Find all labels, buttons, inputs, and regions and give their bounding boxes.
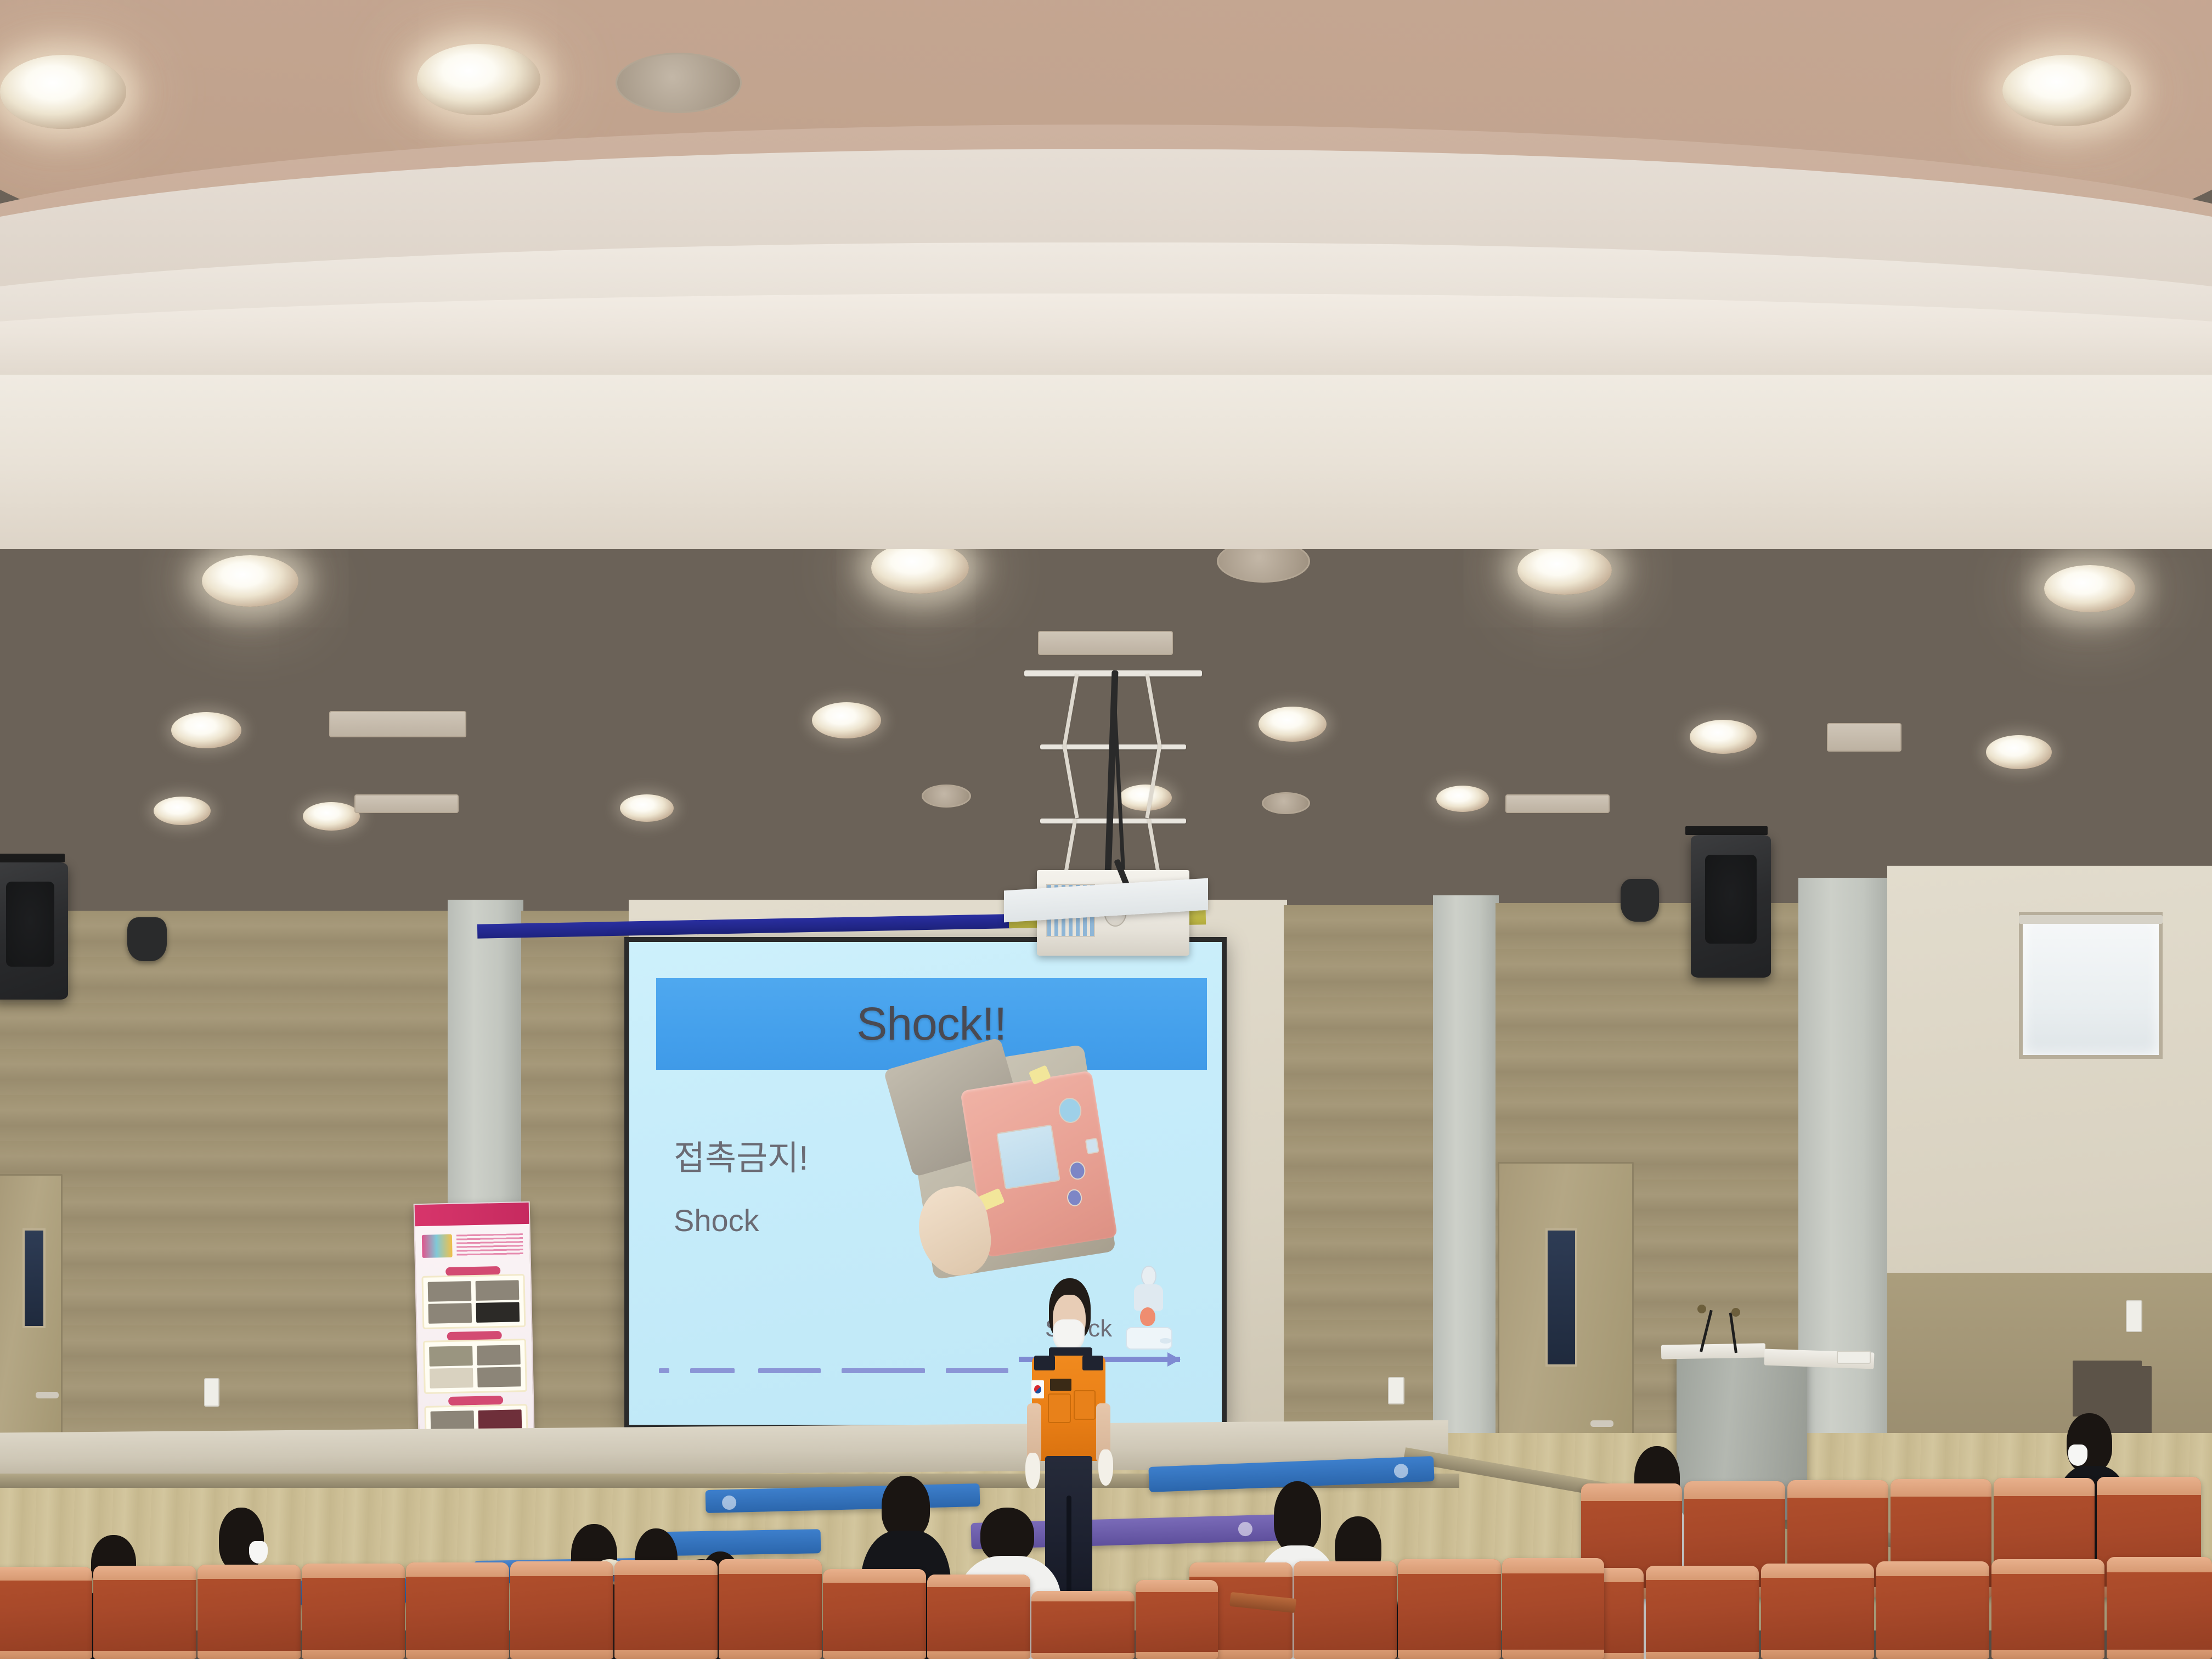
slide-title-banner: Shock!! <box>656 978 1207 1070</box>
auditorium-seat[interactable] <box>1294 1561 1397 1659</box>
ceiling-downlight-12 <box>1986 735 2052 769</box>
instructor-chest-pocket-right <box>1074 1390 1096 1420</box>
rollup-photo <box>427 1281 471 1302</box>
mat-logo <box>722 1496 737 1510</box>
door-window-right <box>1545 1228 1577 1367</box>
aed-power-button <box>1057 1096 1084 1125</box>
wall-wood-center-left <box>521 911 631 1448</box>
attendee-face-mask <box>2068 1444 2088 1466</box>
ceiling-access-hatch <box>1827 723 1901 752</box>
mat-logo <box>1238 1522 1253 1537</box>
instructor-glove-left <box>1025 1453 1040 1489</box>
cpr-compression-icon <box>1124 1266 1175 1352</box>
cpr-icon-victim <box>1126 1327 1172 1350</box>
speaker-bracket-left <box>0 854 65 862</box>
speaker-left <box>0 862 68 1000</box>
wall-wood-center-right <box>1284 905 1437 1454</box>
scissor-arm-l2 <box>1062 745 1079 819</box>
speaker-bracket-right <box>1685 826 1768 835</box>
auditorium-seat[interactable] <box>823 1569 926 1659</box>
ceiling-downlight-15 <box>620 794 674 822</box>
cpr-icon-head <box>1141 1266 1156 1286</box>
progress-dash-1 <box>659 1368 669 1373</box>
back-wall-upper <box>0 375 2212 549</box>
instructor-chest-pocket-left <box>1048 1393 1070 1423</box>
rollup-header-bar <box>415 1203 529 1227</box>
wall-outlet-left <box>204 1378 219 1407</box>
scissor-arm-l3 <box>1064 819 1077 873</box>
rollup-photo-section-1 <box>422 1274 526 1329</box>
ceiling-downlight-2 <box>417 44 540 115</box>
rollup-photo <box>475 1280 519 1301</box>
scissor-arm-r3 <box>1147 819 1160 873</box>
ceiling-vent-round-4 <box>1262 792 1310 814</box>
cpr-icon-torso <box>1134 1284 1163 1311</box>
ceiling-downlight-6 <box>1517 545 1612 595</box>
auditorium-seat[interactable] <box>1136 1580 1218 1659</box>
aed-device-image <box>898 1039 1125 1289</box>
scissor-arm-r1 <box>1145 674 1161 747</box>
ceiling-downlight-5 <box>871 542 969 594</box>
ceiling-downlight-14 <box>303 802 360 831</box>
auditorium-seat[interactable] <box>1398 1559 1501 1659</box>
presentation-slide: Shock!! 접촉금지! Shock Sh <box>629 942 1222 1425</box>
window-right-wall <box>2019 912 2163 1059</box>
ceiling-vent-strip-2 <box>354 794 459 813</box>
progress-dash-2 <box>690 1368 735 1373</box>
slide-english-text: Shock <box>674 1203 759 1238</box>
wall-switch-right <box>2126 1300 2142 1332</box>
spotlight-right <box>1621 879 1659 922</box>
auditorium-photo: Shock!! 접촉금지! Shock Sh <box>0 0 2212 1659</box>
auditorium-seat[interactable] <box>1876 1561 1989 1659</box>
mat-logo <box>1394 1464 1409 1479</box>
scissor-arm-l1 <box>1062 674 1079 747</box>
wall-column-center-right <box>1433 895 1499 1460</box>
instructor-epaulette-right <box>1082 1356 1103 1370</box>
auditorium-seat[interactable] <box>1502 1558 1604 1659</box>
instructor-epaulette-left <box>1034 1356 1055 1370</box>
auditorium-seat[interactable] <box>0 1567 92 1659</box>
rollup-photo <box>428 1303 472 1324</box>
korean-flag-patch <box>1031 1380 1044 1398</box>
progress-arrow-head <box>1167 1352 1181 1367</box>
instructor-glove-right <box>1098 1449 1113 1486</box>
rollup-photo <box>477 1367 521 1387</box>
rollup-photo <box>429 1346 473 1367</box>
ceiling-downlight-13 <box>154 797 211 825</box>
auditorium-seat[interactable] <box>927 1575 1030 1659</box>
ceiling-downlight-17 <box>1436 786 1489 812</box>
ceiling-downlight-4 <box>202 555 298 607</box>
progress-dash-3 <box>758 1368 821 1373</box>
ceiling-downlight-7 <box>2044 565 2135 612</box>
auditorium-seat[interactable] <box>510 1561 613 1659</box>
speaker-right <box>1691 835 1771 978</box>
rollup-photo <box>476 1302 520 1323</box>
auditorium-seat[interactable] <box>614 1560 718 1659</box>
lectern-control-plate[interactable] <box>1837 1351 1871 1364</box>
ceiling-downlight-10 <box>1259 707 1327 742</box>
aed-indicator <box>1085 1138 1099 1155</box>
progress-dash-5 <box>946 1368 1008 1373</box>
ceiling-vent-strip-3 <box>1505 794 1610 813</box>
auditorium-seat[interactable] <box>406 1562 509 1659</box>
auditorium-seat[interactable] <box>2107 1557 2212 1659</box>
door-handle-left[interactable] <box>36 1392 59 1398</box>
ceiling-vent-round-3 <box>922 785 971 808</box>
rollup-header-text <box>456 1233 523 1256</box>
ceiling-projector-hatch <box>1038 631 1173 655</box>
aed-aux-button <box>1066 1188 1083 1207</box>
ceiling-downlight-8 <box>171 712 241 748</box>
projection-screen: Shock!! 접촉금지! Shock Sh <box>624 937 1227 1430</box>
wall-wainscot-right <box>1887 1273 2212 1437</box>
window-roller-shade <box>2019 915 2163 924</box>
ceiling-downlight-1 <box>0 55 126 129</box>
slide-korean-text: 접촉금지! <box>674 1130 808 1180</box>
cpr-icon-victim-head <box>1160 1338 1171 1344</box>
spotlight-left <box>127 917 167 961</box>
instructor-name-tag <box>1050 1379 1072 1391</box>
microphone-head-2 <box>1731 1308 1740 1317</box>
auditorium-seat[interactable] <box>1991 1559 2104 1659</box>
wall-outlet-center <box>1388 1377 1404 1404</box>
attendee-face-mask <box>249 1541 267 1564</box>
attendee-head <box>980 1508 1034 1562</box>
auditorium-seat[interactable] <box>1646 1566 1759 1659</box>
ceiling-vent-strip-1 <box>329 711 466 737</box>
scissor-arm-r2 <box>1145 745 1161 819</box>
rollup-photo <box>477 1345 521 1365</box>
progress-dash-4 <box>842 1368 925 1373</box>
auditorium-seat[interactable] <box>93 1566 196 1659</box>
auditorium-seat[interactable] <box>198 1565 301 1659</box>
aed-shock-button <box>1069 1160 1087 1181</box>
attendee-head <box>1274 1481 1321 1553</box>
door-handle-right[interactable] <box>1590 1420 1613 1427</box>
auditorium-seat[interactable] <box>1761 1564 1874 1659</box>
microphone-head-1 <box>1697 1305 1706 1313</box>
auditorium-seat[interactable] <box>1031 1591 1135 1659</box>
door-window-left <box>22 1228 46 1328</box>
attendee-head <box>882 1476 930 1538</box>
aed-lcd-screen <box>997 1125 1061 1190</box>
rollup-photo-section-2 <box>423 1339 527 1395</box>
rollup-photo <box>478 1409 522 1430</box>
ceiling-downlight-3 <box>2002 55 2131 126</box>
brc-logo <box>422 1234 452 1258</box>
ceiling-downlight-11 <box>1690 720 1757 754</box>
instructor-trouser-split <box>1066 1496 1071 1594</box>
auditorium-seat[interactable] <box>719 1559 822 1659</box>
ceiling-downlight-9 <box>812 702 881 738</box>
ceiling-vent-round-1 <box>616 53 742 113</box>
auditorium-seat[interactable] <box>302 1564 405 1659</box>
lectern-top-surface <box>1661 1343 1765 1359</box>
wall-column-right <box>1798 878 1892 1459</box>
cpr-icon-heart <box>1140 1307 1155 1327</box>
rollup-photo <box>430 1368 473 1389</box>
